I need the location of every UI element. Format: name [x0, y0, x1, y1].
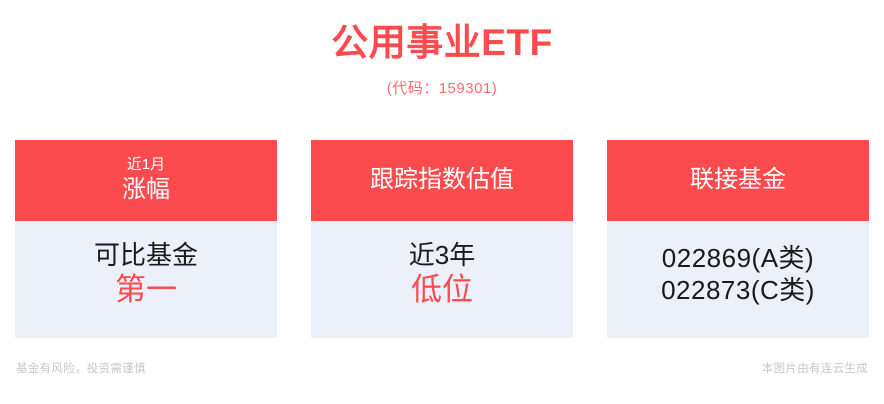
card-header-valuation-label: 跟踪指数估值: [370, 164, 514, 196]
page-title: 公用事业ETF: [0, 22, 884, 65]
attribution-note: 本图片由有连云生成: [762, 360, 868, 376]
fund-code-subtitle: (代码：159301): [0, 77, 884, 98]
page-header: 公用事业ETF (代码：159301): [0, 0, 884, 98]
card-body-monthly-gain: 可比基金 第一: [15, 221, 277, 338]
card-body-valuation-period-label: 近3年: [409, 239, 475, 272]
card-body-comparison-label: 可比基金: [94, 239, 198, 272]
stat-card-monthly-gain: 近1月 涨幅 可比基金 第一: [15, 140, 277, 338]
card-header-monthly-gain: 近1月 涨幅: [15, 140, 277, 221]
stat-card-index-valuation: 跟踪指数估值 近3年 低位: [311, 140, 573, 338]
card-body-rank-value: 第一: [115, 271, 177, 310]
stat-card-feeder-fund: 联接基金 022869(A类) 022873(C类): [607, 140, 869, 338]
card-header-feeder-fund: 联接基金: [607, 140, 869, 221]
card-body-valuation-level-value: 低位: [411, 271, 473, 310]
feeder-fund-code-a: 022869(A类): [662, 243, 814, 274]
infographic-page: 公用事业ETF (代码：159301) 近1月 涨幅 可比基金 第一 跟踪指数估…: [0, 0, 884, 404]
page-footer: 基金有风险，投资需谨慎 本图片由有连云生成: [0, 360, 884, 376]
feeder-fund-code-c: 022873(C类): [661, 275, 815, 306]
stat-card-row: 近1月 涨幅 可比基金 第一 跟踪指数估值 近3年 低位 联接基金 022869…: [15, 140, 869, 338]
risk-disclaimer: 基金有风险，投资需谨慎: [16, 360, 146, 376]
card-body-index-valuation: 近3年 低位: [311, 221, 573, 338]
card-header-period-label: 近1月: [127, 155, 165, 175]
card-header-metric-label: 涨幅: [122, 174, 170, 206]
card-body-feeder-fund: 022869(A类) 022873(C类): [607, 221, 869, 338]
card-header-feeder-fund-label: 联接基金: [690, 164, 786, 196]
card-header-index-valuation: 跟踪指数估值: [311, 140, 573, 221]
